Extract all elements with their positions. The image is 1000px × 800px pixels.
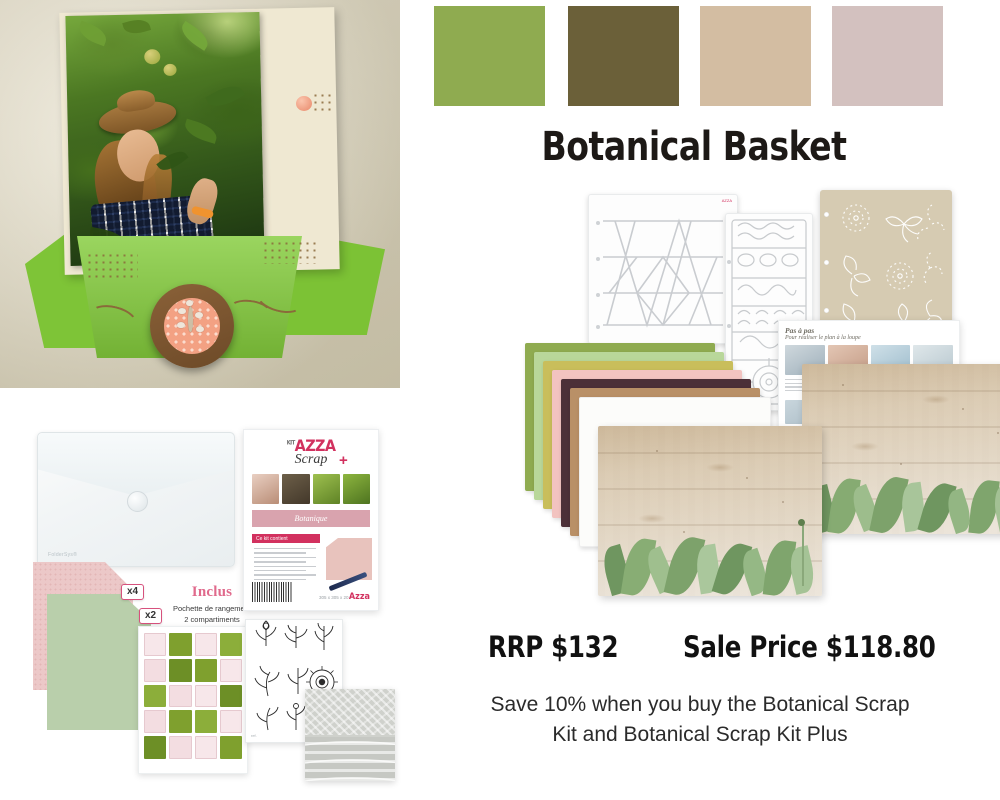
die-cut-foliage-right [262,240,320,264]
botanical-border-back [802,459,1000,534]
product-title: Botanical Basket [455,124,933,170]
wallet-brand-label: FolderSys® [48,552,77,558]
package-thumbnails [252,474,370,504]
swatch-dusty-rose [832,6,943,106]
promo-line-1: Save 10% when you buy the Botanical Scra… [410,690,990,720]
embossing-folder-wave [305,737,395,781]
plus-mark: + [339,452,348,469]
peach-fruit-accent [296,96,312,111]
color-palette-strip [434,6,944,106]
swatch-sand-tan [700,6,811,106]
price-row: RRP $132 Sale Price $118.80 [470,630,970,664]
storage-wallet: FolderSys® [37,432,235,567]
product-contents-photo: AZZA az [520,178,1000,628]
package-contents-list [254,548,320,583]
wood-botanical-paper-back [802,364,1000,534]
geometric-cutting-template: AZZA az [588,194,738,344]
embossing-folders [305,689,395,781]
stamp-sheet-code: ref. [251,733,257,738]
swatch-olive-brown [568,6,679,106]
garden-photo [65,12,264,266]
template-brand-mark: AZZA [722,198,732,203]
promo-page: Botanical Basket AZZA az [0,0,1000,800]
die-cut-foliage-left [86,252,138,278]
pussy-willow-sprig [176,300,206,346]
barcode [252,582,292,602]
azza-kit-package: KITAZZA Scrap + Botanique Ce kit contien… [243,429,379,611]
quantity-badge-pink: x4 [121,584,144,600]
finished-layout-photo [0,0,400,388]
sticker-sheet [138,626,248,774]
contents-bar-label: Ce kit contient [256,536,288,542]
wood-botanical-paper-front [598,426,822,596]
peach-leaf-accent [312,92,334,112]
sticker-grid [144,633,242,759]
rrp-price: RRP $132 [488,630,618,664]
green-card-stock [47,594,151,730]
arm [183,175,221,227]
sale-price: Sale Price $118.80 [683,630,936,664]
kit-contents-photo: FolderSys® x4 x2 Inclus Pochette de rang… [0,404,420,800]
swatch-leaf-green [434,6,545,106]
instruction-heading: Pas à pasPour réaliser le plan à la loup… [779,321,959,341]
promo-message: Save 10% when you buy the Botanical Scra… [410,690,990,750]
package-variant-band: Botanique [252,510,370,527]
package-footer-logo: Azza [349,592,370,602]
azza-kit-prefix: KIT [287,440,295,447]
contents-bar: Ce kit contient [252,534,320,543]
promo-line-2: Kit and Botanical Scrap Kit Plus [410,720,990,750]
scrap-wordmark: Scrap [244,452,378,468]
wallet-flap [38,433,234,496]
package-dimensions: 305 x 305 x 20 [319,595,349,600]
botanical-border-front [598,521,822,596]
variant-name: Botanique [295,514,328,523]
wallet-stud [127,491,148,512]
embossing-folder-floral [305,689,395,735]
